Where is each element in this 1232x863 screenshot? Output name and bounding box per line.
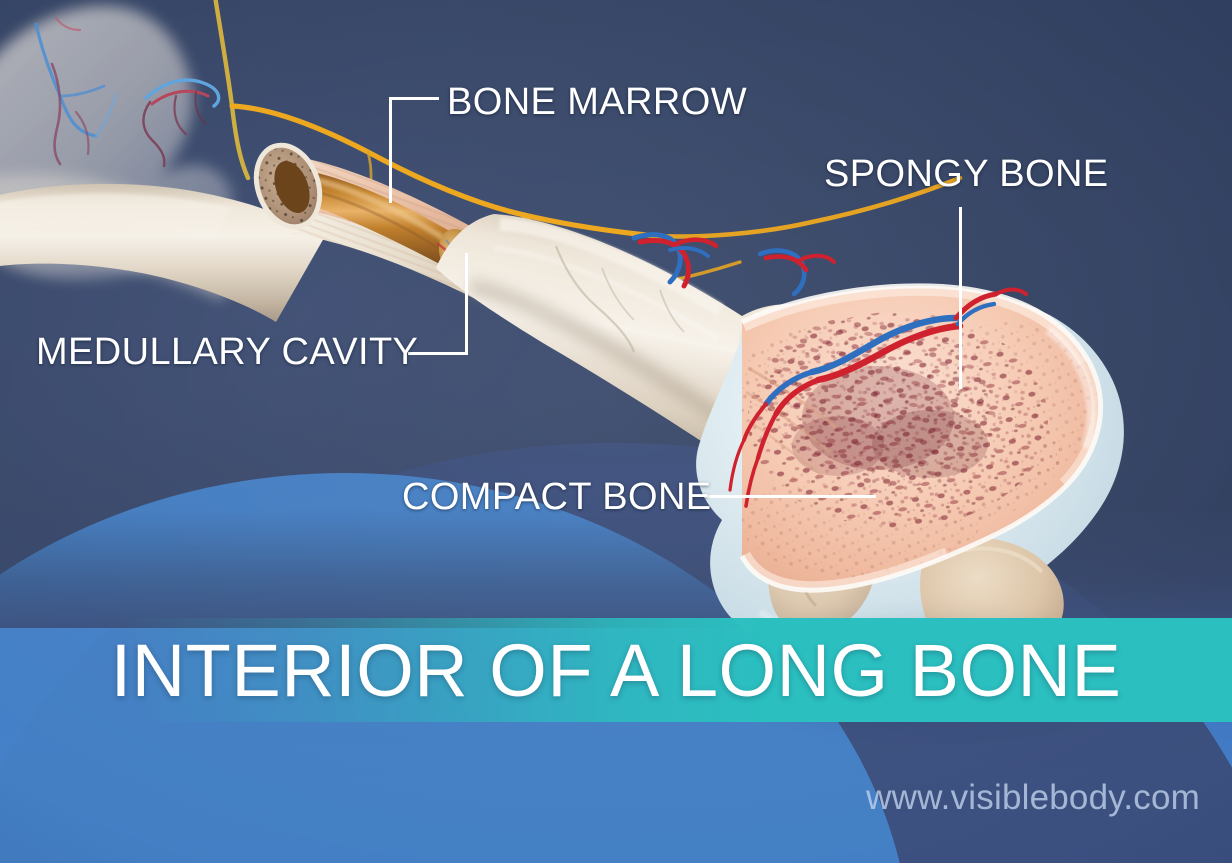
leader-compact-bone-horizontal — [704, 495, 876, 498]
leader-spongy-bone-vertical — [959, 207, 962, 389]
leader-bone-marrow-horizontal — [389, 97, 439, 100]
label-compact-bone: COMPACT BONE — [402, 478, 712, 516]
watermark-url: www.visiblebody.com — [866, 778, 1200, 818]
leader-medullary-cavity-vertical — [465, 253, 468, 355]
long-bone-illustration — [0, 0, 1232, 863]
leader-bone-marrow-vertical — [389, 97, 392, 203]
label-bone-marrow: BONE MARROW — [447, 83, 747, 121]
figure-title: INTERIOR OF A LONG BONE — [0, 618, 1232, 722]
label-spongy-bone: SPONGY BONE — [824, 155, 1109, 193]
figure-canvas: BONE MARROW SPONGY BONE MEDULLARY CAVITY… — [0, 0, 1232, 863]
label-medullary-cavity: MEDULLARY CAVITY — [36, 333, 418, 371]
